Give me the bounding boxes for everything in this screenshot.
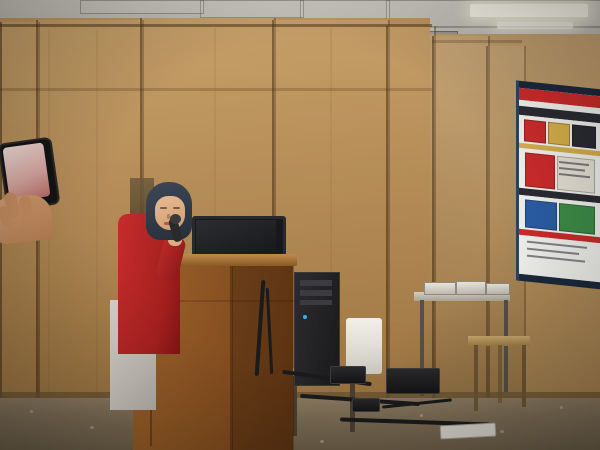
presenter-eye — [160, 207, 167, 209]
podium-edge — [230, 266, 233, 450]
wall-grain — [96, 30, 98, 410]
tower-drive-bay — [300, 280, 332, 286]
tower-drive-bay — [300, 300, 332, 305]
slide-tile — [525, 199, 557, 230]
microphone-head — [170, 214, 181, 224]
floor-speck — [420, 414, 423, 417]
floor-speck — [30, 410, 33, 413]
ceiling-tile — [80, 0, 204, 14]
ceiling-light — [497, 22, 573, 29]
slide-tile — [548, 122, 570, 146]
slide-tile — [524, 119, 546, 143]
power-led-icon — [303, 315, 307, 319]
wall-trim — [0, 88, 432, 91]
table-equipment — [486, 283, 510, 295]
wall-panel — [386, 26, 436, 422]
floor-device — [352, 398, 380, 412]
wall-trim — [0, 24, 432, 27]
wall-trim — [432, 40, 522, 43]
floor-device — [386, 368, 440, 394]
table-equipment — [424, 282, 456, 295]
floor-speck — [90, 426, 94, 429]
slide-tile — [559, 203, 595, 235]
tower-drive-bay — [300, 290, 332, 296]
stool-leg — [522, 345, 526, 407]
floor-device — [330, 366, 366, 384]
projected-slide — [519, 88, 600, 283]
wall-panel — [432, 36, 490, 414]
stool-leg — [474, 345, 478, 411]
ceiling-tile — [200, 0, 304, 18]
table-leg — [504, 300, 508, 392]
slide-tile — [572, 124, 596, 149]
table-equipment — [456, 281, 486, 295]
photo-scene: A woman in a red blazer and dark hijab s… — [0, 0, 600, 450]
slide-tile — [525, 152, 555, 189]
ceiling-light — [470, 4, 588, 17]
floor-speck — [560, 406, 563, 409]
presenter-eye — [173, 207, 180, 209]
stool-leg — [498, 345, 502, 403]
